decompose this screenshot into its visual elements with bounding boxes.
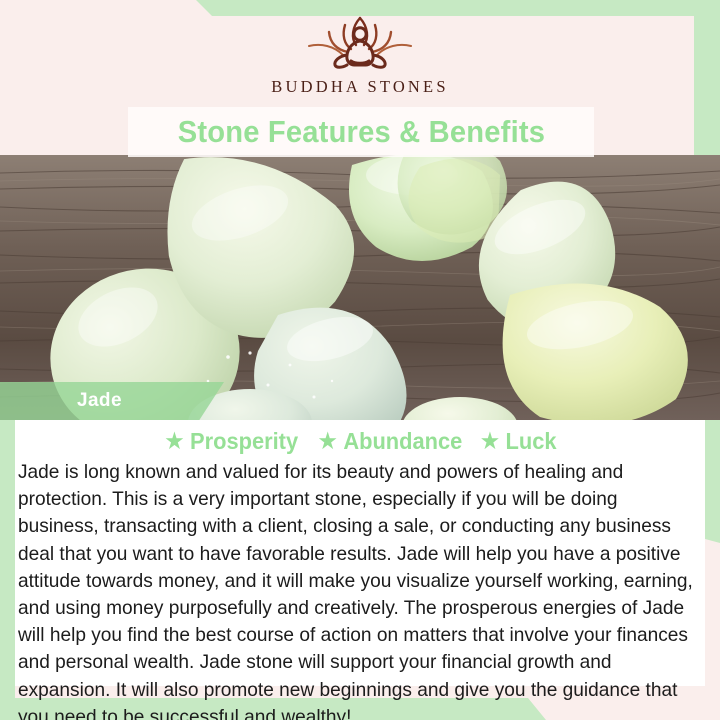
stone-photo (0, 155, 720, 420)
keyword-label: Abundance (343, 428, 462, 455)
keyword-label: Prosperity (190, 428, 298, 455)
star-icon: ★ (318, 431, 336, 452)
keyword-luck: ★ Luck (481, 428, 557, 455)
brand-name: BUDDHA STONES (271, 77, 448, 97)
star-icon: ★ (481, 431, 499, 452)
stone-description: Jade is long known and valued for its be… (18, 459, 694, 720)
left-green-band (0, 420, 15, 720)
photo-caption-band: Jade (0, 382, 224, 420)
brand-header: BUDDHA STONES (0, 0, 720, 108)
title-banner: Stone Features & Benefits (128, 107, 594, 157)
keyword-list: ★ Prosperity ★ Abundance ★ Luck (0, 428, 720, 455)
stone-name-label: Jade (77, 390, 122, 412)
keyword-label: Luck (505, 428, 556, 455)
page-title: Stone Features & Benefits (177, 114, 544, 150)
lotus-meditation-icon (301, 12, 419, 74)
stone-info-card: BUDDHA STONES Stone Features & Benefits (0, 0, 720, 720)
keyword-prosperity: ★ Prosperity (165, 428, 298, 455)
keyword-abundance: ★ Abundance (318, 428, 462, 455)
star-icon: ★ (165, 431, 183, 452)
